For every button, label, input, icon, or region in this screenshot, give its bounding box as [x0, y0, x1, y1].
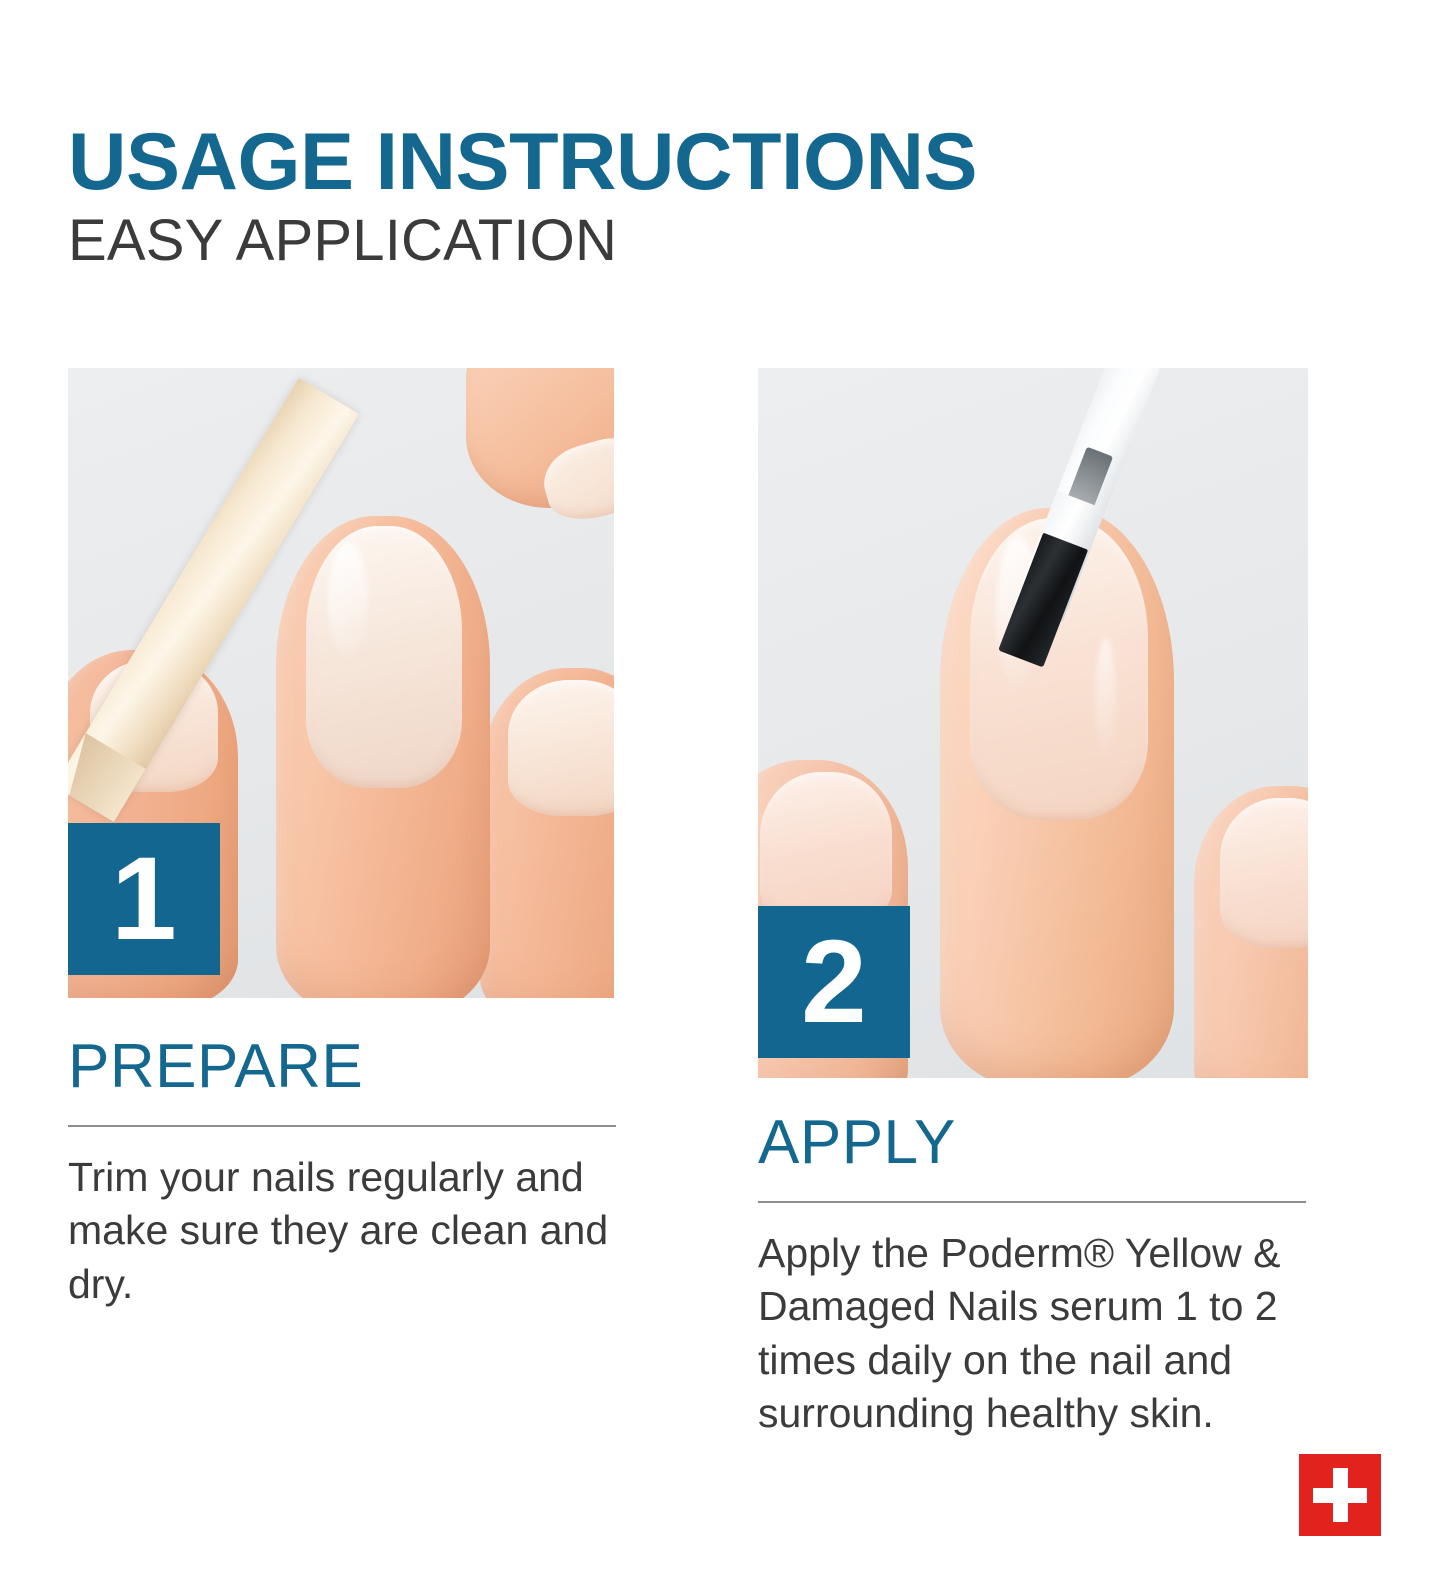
page-title: USAGE INSTRUCTIONS	[68, 124, 977, 201]
nail-right-icon	[1220, 798, 1308, 948]
nail-gloss-icon	[328, 542, 368, 658]
swiss-cross-vertical	[1333, 1468, 1348, 1522]
step-2-photo: 2	[758, 368, 1308, 1078]
step-1-heading: PREPARE	[68, 1034, 614, 1099]
infographic-page: USAGE INSTRUCTIONS EASY APPLICATION 1 PR	[0, 0, 1445, 1590]
page-subtitle: EASY APPLICATION	[68, 209, 977, 274]
step-2-number-badge: 2	[758, 906, 910, 1058]
step-2-number: 2	[801, 923, 867, 1041]
step-2-divider	[758, 1201, 1306, 1203]
step-card-prepare: 1 PREPARE Trim your nails regularly and …	[68, 368, 614, 1311]
step-card-apply: 2 APPLY Apply the Poderm® Yellow & Damag…	[758, 368, 1308, 1440]
nail-gloss-secondary-icon	[1096, 638, 1116, 758]
step-1-divider	[68, 1125, 616, 1127]
step-1-photo: 1	[68, 368, 614, 998]
step-1-number-badge: 1	[68, 823, 220, 975]
step-1-body: Trim your nails regularly and make sure …	[68, 1151, 614, 1311]
nail-right-icon	[508, 680, 614, 816]
header: USAGE INSTRUCTIONS EASY APPLICATION	[68, 124, 977, 274]
step-2-body: Apply the Poderm® Yellow & Damaged Nails…	[758, 1227, 1308, 1440]
step-2-heading: APPLY	[758, 1110, 1308, 1175]
nail-middle-icon	[306, 526, 462, 788]
step-1-number: 1	[111, 840, 177, 958]
swiss-flag-icon	[1299, 1454, 1381, 1536]
